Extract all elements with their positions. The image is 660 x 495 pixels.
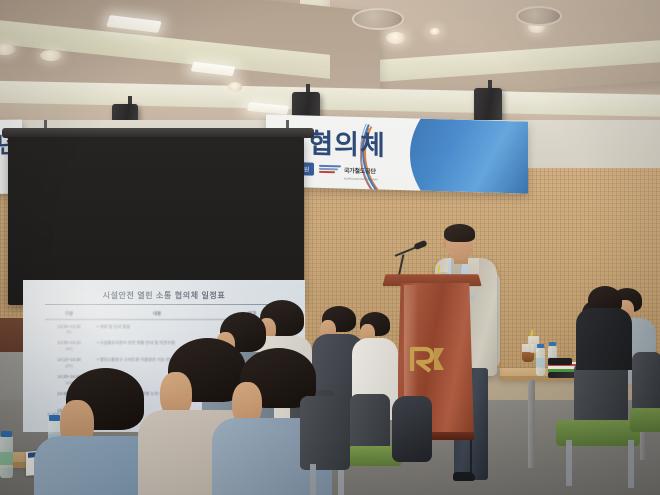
bottle-label — [536, 358, 545, 367]
ceiling-downlight — [228, 82, 242, 92]
speaker-shoe — [453, 472, 475, 481]
slide-title-rule — [45, 304, 283, 305]
chair-leg — [566, 440, 572, 486]
ceiling-vent — [516, 6, 562, 26]
ceiling-downlight — [430, 28, 440, 35]
bottle-cap — [549, 342, 556, 346]
row-time: 13:30~13:35(5') — [45, 324, 93, 336]
col-header-content: 내용 — [93, 311, 221, 317]
kr-logo: 국가철도공단 KOREA NATIONAL RAILWAY — [319, 159, 378, 182]
row-time: 13:35~14:10(35') — [45, 340, 93, 352]
kr-mark-icon — [319, 164, 341, 176]
person-torso — [576, 308, 632, 370]
ceiling-speaker — [474, 88, 502, 122]
podium-r-emblem-icon — [408, 345, 448, 373]
chair-backrest — [350, 394, 390, 452]
chair-leg — [310, 464, 316, 495]
ceiling-downlight — [40, 50, 62, 61]
banner-logo-row: 후원 국가철도공단 KOREA NATIONAL RAILWAY — [294, 158, 378, 181]
event-banner: 통 협의체 후원 국가철도공단 KOREA NATIONAL RAILWAY — [266, 114, 528, 193]
table-leg — [528, 380, 535, 468]
row-time: 14:10~14:30(20') — [45, 357, 93, 369]
chair-seat — [630, 408, 660, 432]
ceiling-vent — [352, 8, 404, 30]
chair-leg — [338, 466, 344, 495]
row-content: • 개회 및 인사 말씀 — [93, 324, 221, 331]
chair-backrest — [574, 362, 628, 424]
seminar-room-photo: 년 8월 통 협의체 후원 국가철도공단 KOREA NATIONAL RAIL… — [0, 0, 660, 495]
col-header-division: 구분 — [45, 311, 93, 317]
coffee-liquid — [522, 352, 534, 362]
slide-title: 시설안전 열린 소통 협의체 일정표 — [23, 290, 305, 301]
chair-leg — [628, 440, 634, 488]
chair-backrest — [300, 396, 350, 470]
device-on-table — [548, 358, 572, 365]
speaker-hair — [444, 224, 475, 242]
projection-screen-frame: 시설안전 열린 소통 협의체 일정표 구분 내용 비고 13:30~13:35(… — [8, 137, 304, 305]
bottle-cap — [49, 415, 60, 421]
backpack — [392, 396, 432, 462]
bottle-cap — [537, 344, 544, 348]
ceiling-downlight — [386, 32, 406, 44]
kr-wordmark: 국가철도공단 KOREA NATIONAL RAILWAY — [344, 160, 378, 182]
bottle-label — [0, 452, 13, 465]
chair-backrest — [632, 352, 660, 412]
bottle-cap — [1, 431, 12, 437]
